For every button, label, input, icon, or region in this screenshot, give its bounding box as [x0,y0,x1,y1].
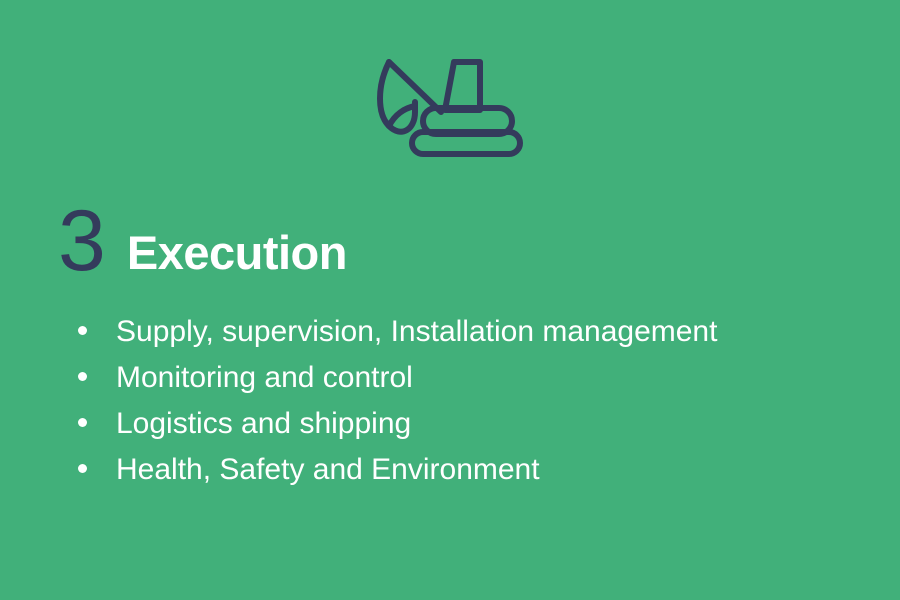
bullet-dot-icon [78,464,87,473]
excavator-icon [375,50,530,158]
bullet-dot-icon [78,326,87,335]
bullet-list: Supply, supervision, Installation manage… [78,313,878,497]
slide-root: 3 Execution Supply, supervision, Install… [0,0,900,600]
list-item-label: Health, Safety and Environment [116,451,540,489]
page-title: Execution [127,229,347,276]
slide-title: 3 Execution [58,196,347,280]
list-item-label: Monitoring and control [116,359,413,397]
bullet-dot-icon [78,418,87,427]
list-item-label: Logistics and shipping [116,405,411,443]
list-item: Logistics and shipping [78,405,878,451]
list-item: Monitoring and control [78,359,878,405]
list-item: Health, Safety and Environment [78,451,878,497]
list-item: Supply, supervision, Installation manage… [78,313,878,359]
excavator-cab [445,62,480,110]
bullet-dot-icon [78,372,87,381]
list-item-label: Supply, supervision, Installation manage… [116,313,717,351]
section-number: 3 [58,204,105,280]
